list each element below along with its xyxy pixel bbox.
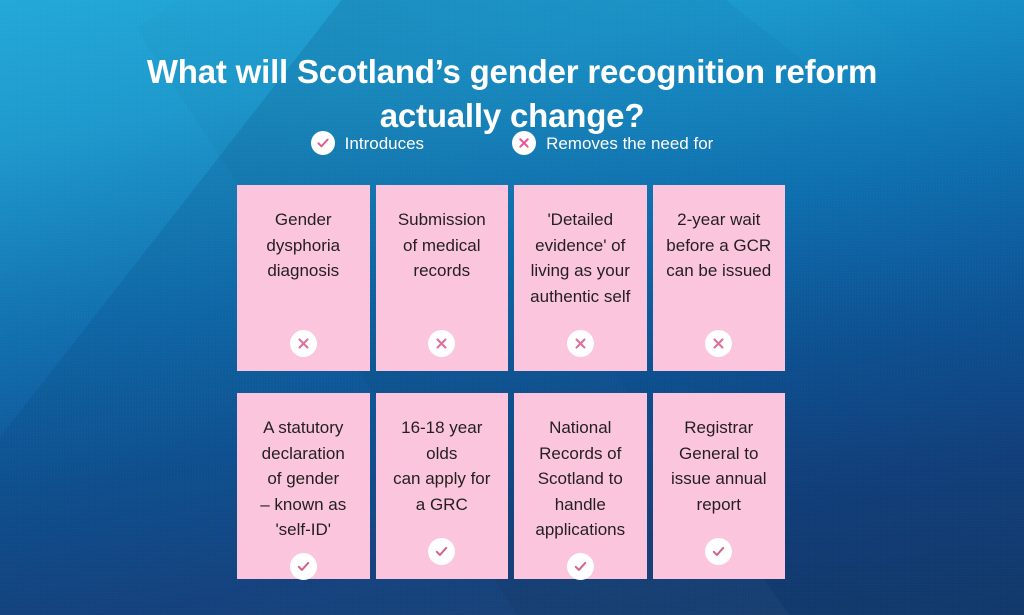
card-two-year-wait: 2-year wait before a GCR can be issued	[653, 185, 786, 371]
cross-circle-icon	[428, 330, 455, 357]
card-grid: Gender dysphoria diagnosis Submission of…	[237, 185, 785, 579]
cross-circle-icon	[290, 330, 317, 357]
card-row-removes: Gender dysphoria diagnosis Submission of…	[237, 185, 785, 371]
cross-circle-icon	[512, 131, 536, 155]
check-circle-icon	[567, 553, 594, 580]
card-registrar-general-annual-report: Registrar General to issue annual report	[653, 393, 786, 579]
card-16-18-year-olds-grc: 16-18 year olds can apply for a GRC	[376, 393, 509, 579]
legend-item-removes: Removes the need for	[512, 131, 713, 155]
legend-label-introduces: Introduces	[345, 135, 424, 152]
card-text: Submission of medical records	[398, 207, 486, 284]
card-detailed-evidence-of-living: 'Detailed evidence' of living as your au…	[514, 185, 647, 371]
card-national-records-scotland: National Records of Scotland to handle a…	[514, 393, 647, 579]
check-circle-icon	[290, 553, 317, 580]
check-circle-icon	[705, 538, 732, 565]
cross-circle-icon	[705, 330, 732, 357]
card-statutory-declaration-self-id: A statutory declaration of gender – know…	[237, 393, 370, 579]
card-text: Gender dysphoria diagnosis	[266, 207, 340, 284]
legend-label-removes: Removes the need for	[546, 135, 713, 152]
page-title: What will Scotland’s gender recognition …	[0, 50, 1024, 137]
card-text: 'Detailed evidence' of living as your au…	[530, 207, 630, 309]
card-gender-dysphoria-diagnosis: Gender dysphoria diagnosis	[237, 185, 370, 371]
check-circle-icon	[428, 538, 455, 565]
card-text: Registrar General to issue annual report	[671, 415, 766, 517]
legend-item-introduces: Introduces	[311, 131, 424, 155]
infographic-canvas: What will Scotland’s gender recognition …	[0, 0, 1024, 615]
card-row-introduces: A statutory declaration of gender – know…	[237, 393, 785, 579]
legend: Introduces Removes the need for	[0, 131, 1024, 155]
card-text: A statutory declaration of gender – know…	[260, 415, 346, 543]
card-text: 2-year wait before a GCR can be issued	[666, 207, 771, 284]
card-text: National Records of Scotland to handle a…	[535, 415, 625, 543]
cross-circle-icon	[567, 330, 594, 357]
card-text: 16-18 year olds can apply for a GRC	[388, 415, 497, 517]
check-circle-icon	[311, 131, 335, 155]
card-submission-of-medical-records: Submission of medical records	[376, 185, 509, 371]
